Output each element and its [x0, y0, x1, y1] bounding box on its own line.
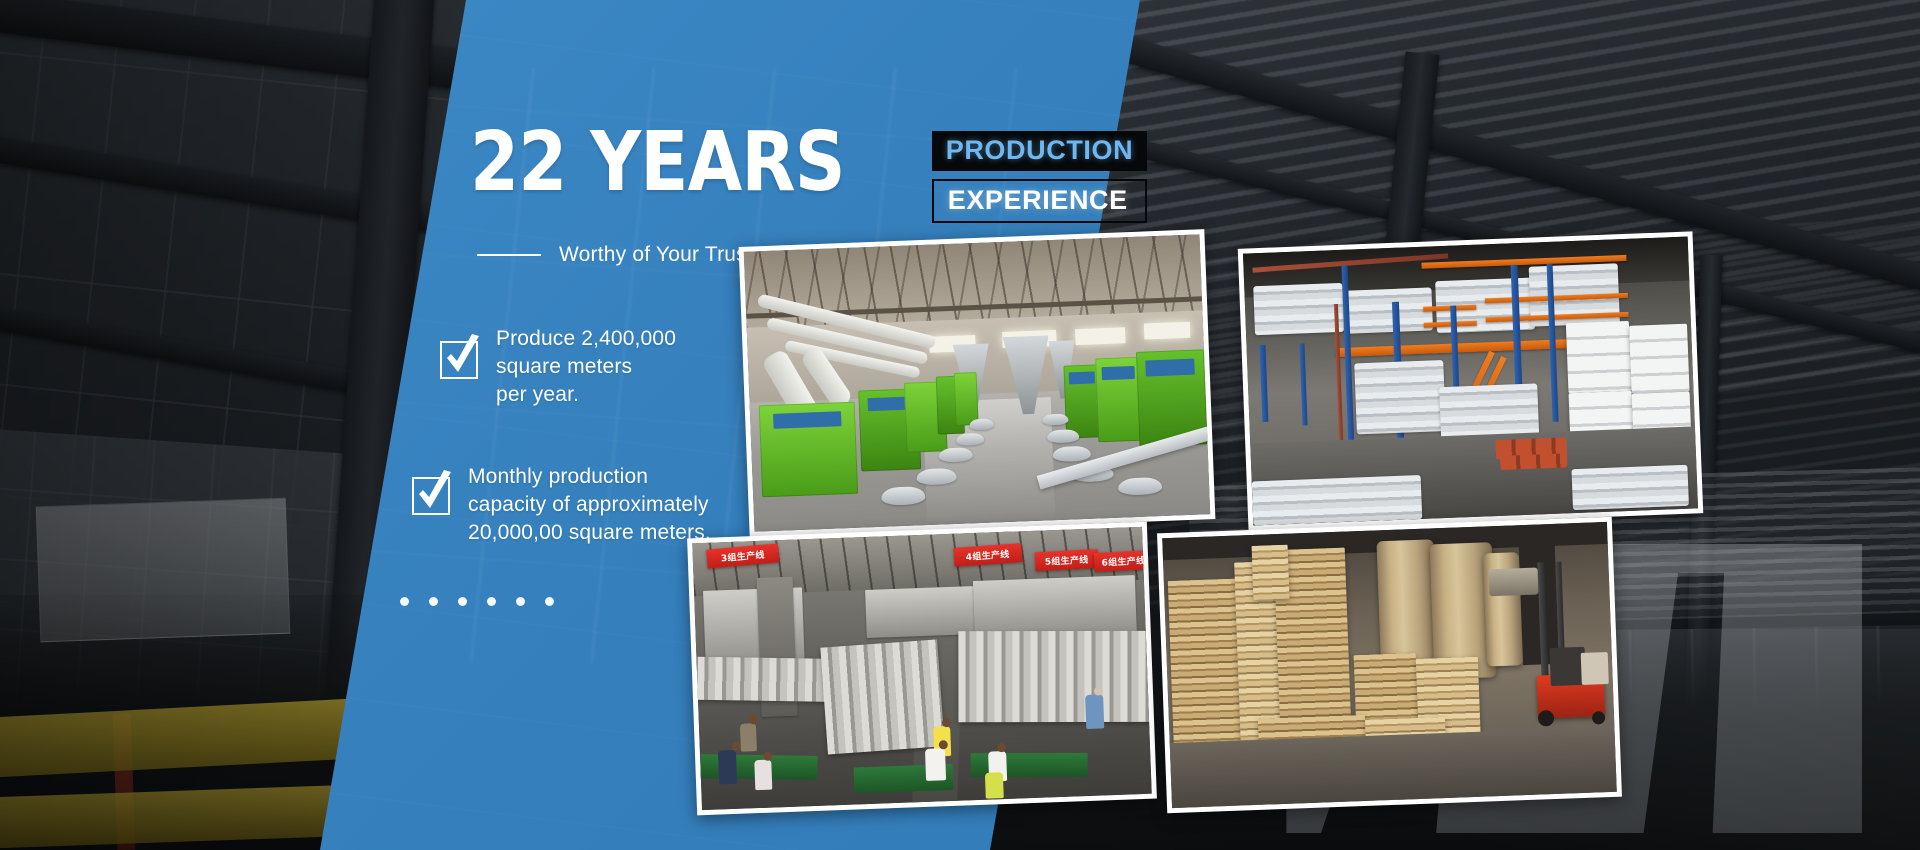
photo-pallet-storage: [1157, 517, 1622, 813]
photo-raw-material-warehouse: [1238, 231, 1703, 530]
banner-label: 6组生产线: [1093, 550, 1152, 572]
photo-collage: 3组生产线 4组生产线 5组生产线 6组生产线: [0, 0, 1920, 850]
photo-production-lines: 3组生产线 4组生产线 5组生产线 6组生产线: [687, 522, 1157, 816]
banner-label: 5组生产线: [1035, 549, 1099, 571]
promo-banner: 22 YEARS PRODUCTION EXPERIENCE Worthy of…: [0, 0, 1920, 850]
photo-injection-molding-hall: [739, 229, 1216, 537]
